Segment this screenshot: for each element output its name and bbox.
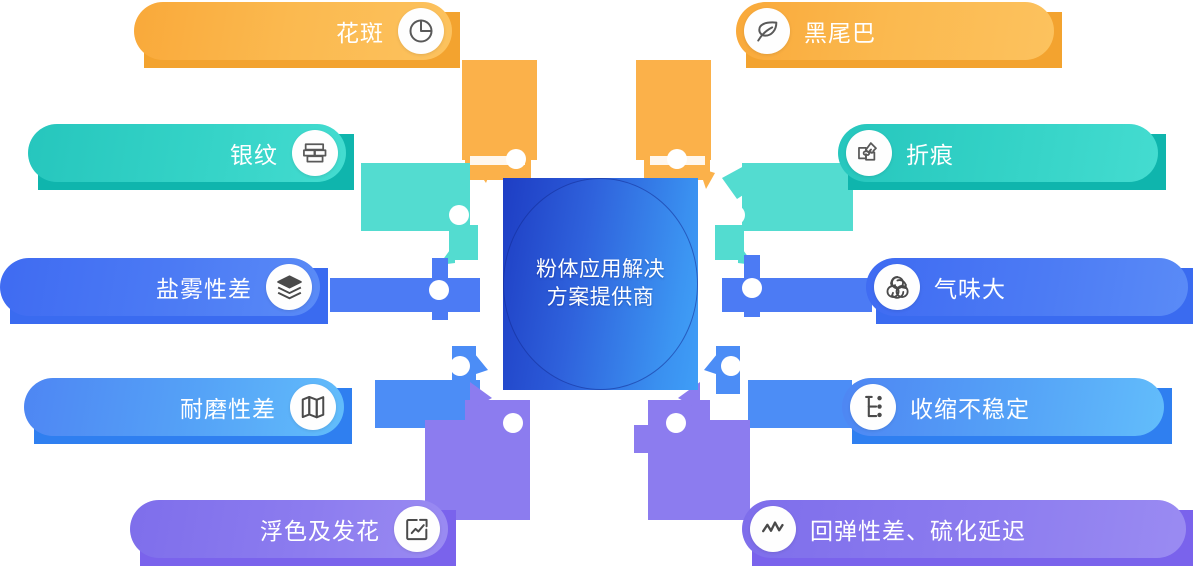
pill-label: 黑尾巴 xyxy=(804,14,876,48)
pie-chart-icon xyxy=(398,8,444,54)
leaf-icon xyxy=(744,8,790,54)
pill-item-huaban[interactable]: 花斑 xyxy=(134,2,452,60)
pill-item-yanwuxingcha[interactable]: 盐雾性差 xyxy=(0,258,320,316)
sitemap-icon xyxy=(850,384,896,430)
connector-heiweiba xyxy=(636,60,715,189)
pill-label: 浮色及发花 xyxy=(260,512,380,546)
pill-label: 盐雾性差 xyxy=(156,270,252,304)
recycle-icon xyxy=(874,264,920,310)
pill-item-heiweiba[interactable]: 黑尾巴 xyxy=(736,2,1054,60)
connector-huaban xyxy=(462,60,537,183)
pill-item-zhehen[interactable]: 折痕 xyxy=(838,124,1158,182)
connector-yanwuxingcha xyxy=(330,258,480,320)
pill-label: 气味大 xyxy=(934,270,1006,304)
center-hub-line-2: 方案提供商 xyxy=(547,284,655,312)
puzzle-piece-icon xyxy=(846,130,892,176)
pill-item-naimoxingcha[interactable]: 耐磨性差 xyxy=(24,378,344,436)
map-icon xyxy=(290,384,336,430)
pill-label: 耐磨性差 xyxy=(180,390,276,424)
center-hub-text: 粉体应用解决 方案提供商 xyxy=(503,178,698,390)
pill-item-fusejifahua[interactable]: 浮色及发花 xyxy=(130,500,448,558)
pill-item-huitanxingcha[interactable]: 回弹性差、硫化延迟 xyxy=(742,500,1186,558)
center-hub: 粉体应用解决 方案提供商 xyxy=(503,178,698,390)
brick-wall-icon xyxy=(292,130,338,176)
infographic-canvas: 粉体应用解决 方案提供商 花斑 银纹 xyxy=(0,0,1193,577)
pill-label: 收缩不稳定 xyxy=(910,390,1030,424)
pill-item-yinwen[interactable]: 银纹 xyxy=(28,124,346,182)
trend-up-chart-icon xyxy=(394,506,440,552)
pill-item-shousuobuwending[interactable]: 收缩不稳定 xyxy=(842,378,1164,436)
pill-item-qiweida[interactable]: 气味大 xyxy=(866,258,1188,316)
layers-icon xyxy=(266,264,312,310)
connector-zhehen xyxy=(715,163,853,265)
pill-label: 花斑 xyxy=(336,14,384,48)
line-chart-icon xyxy=(750,506,796,552)
pill-label: 折痕 xyxy=(906,136,954,170)
pill-label: 回弹性差、硫化延迟 xyxy=(810,512,1026,546)
connector-qiweida xyxy=(722,255,872,317)
connector-shousuobuwending xyxy=(704,346,852,428)
pill-label: 银纹 xyxy=(230,136,278,170)
connector-huitanxingcha xyxy=(634,382,750,520)
connector-yinwen xyxy=(361,163,478,265)
center-hub-line-1: 粉体应用解决 xyxy=(536,256,665,284)
